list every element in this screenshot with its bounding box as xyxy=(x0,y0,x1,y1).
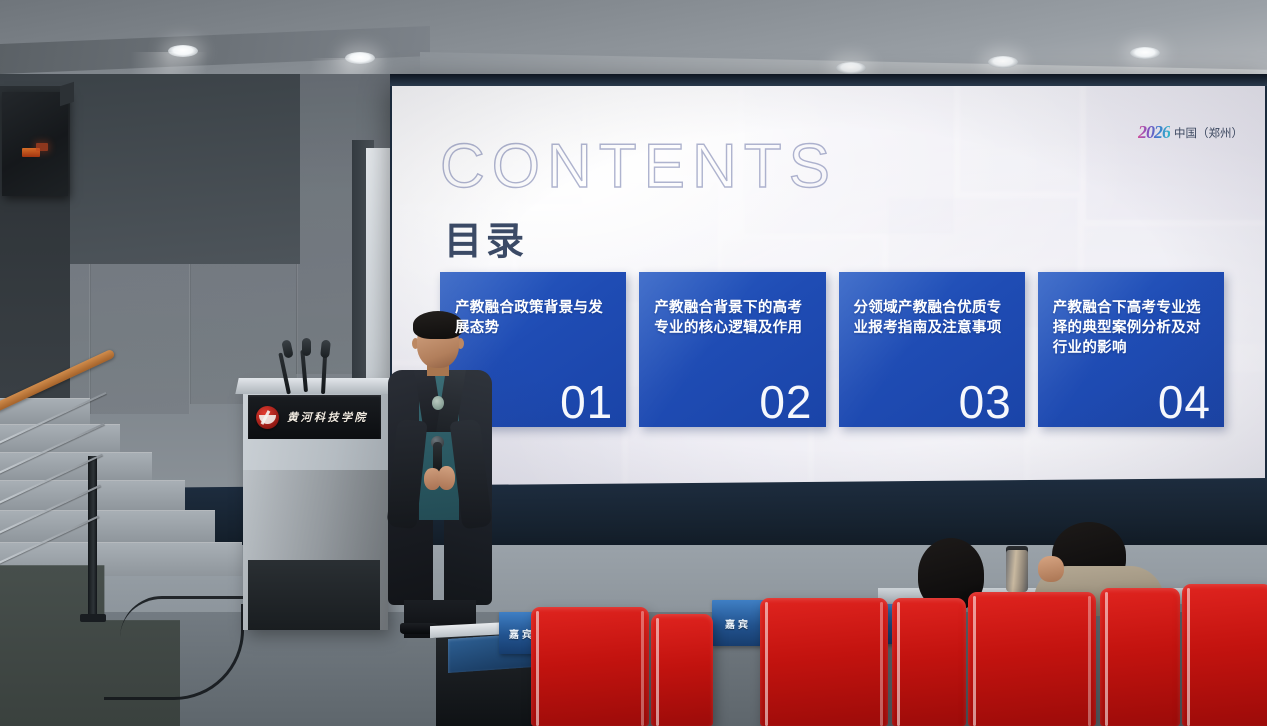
audience-chair[interactable] xyxy=(968,592,1096,726)
place-card: 嘉宾 xyxy=(712,600,764,646)
agenda-card-title: 产教融合背景下的高考专业的核心逻辑及作用 xyxy=(654,298,811,338)
chair-piping xyxy=(897,602,900,726)
agenda-card-number: 01 xyxy=(560,379,613,425)
audience-chair[interactable] xyxy=(651,614,713,726)
ceiling-downlight-icon xyxy=(836,62,866,74)
chair-piping xyxy=(1088,596,1091,726)
agenda-card-title: 分领域产教融合优质专业报考指南及注意事项 xyxy=(854,298,1011,338)
ceiling-downlight-icon xyxy=(345,52,375,64)
microphone-head-icon xyxy=(302,338,311,356)
agenda-card-number: 04 xyxy=(1158,379,1211,425)
presenter-badge-icon xyxy=(432,396,444,410)
audience-chair[interactable] xyxy=(1100,588,1180,726)
ceiling-downlight-icon xyxy=(168,45,198,57)
agenda-card-number: 02 xyxy=(759,379,812,425)
presenter-hand-right xyxy=(438,466,455,490)
screen-vignette xyxy=(392,84,1265,495)
chair-piping xyxy=(536,611,539,726)
presenter xyxy=(386,300,494,630)
audience-chair[interactable] xyxy=(760,598,888,726)
projection-screen-top-bar xyxy=(390,74,1267,86)
indicator-light-icon xyxy=(36,143,48,151)
chair-piping xyxy=(1105,592,1108,726)
lectern-nameplate: 黄河科技学院 xyxy=(248,395,381,439)
agenda-card-title: 产教融合下高考专业选择的典型案例分析及对行业的影响 xyxy=(1053,298,1210,358)
conference-hall-photo: CONTENTS 目录 2026 中国（郑州） 产教融合政策背景与发展态势 01… xyxy=(0,0,1267,726)
place-card-label: 嘉宾 xyxy=(725,616,751,631)
attendee-hand xyxy=(1038,556,1064,582)
ceiling-downlight-icon xyxy=(1130,47,1160,59)
audience-chair[interactable] xyxy=(1182,584,1267,726)
lectern-desktop xyxy=(235,378,396,394)
audience-chair[interactable] xyxy=(531,607,649,726)
railing-post xyxy=(88,456,97,620)
thermos-bottle xyxy=(1006,550,1028,592)
chair-piping xyxy=(880,602,883,726)
university-name: 黄河科技学院 xyxy=(287,409,368,425)
agenda-card-number: 03 xyxy=(959,379,1012,425)
chair-piping xyxy=(1187,588,1190,726)
audience-chair[interactable] xyxy=(892,598,966,726)
chair-piping xyxy=(765,602,768,726)
railing-post-base xyxy=(80,614,106,622)
ceiling-downlight-icon xyxy=(988,56,1018,68)
projection-screen: CONTENTS 目录 2026 中国（郑州） 产教融合政策背景与发展态势 01… xyxy=(392,84,1265,495)
lectern-lower-panel xyxy=(248,560,380,630)
agenda-card-title: 产教融合政策背景与发展态势 xyxy=(455,298,612,338)
wall-speaker xyxy=(2,92,68,196)
university-emblem-icon xyxy=(256,406,279,429)
chair-piping xyxy=(973,596,976,726)
chair-piping xyxy=(641,611,644,726)
chair-piping xyxy=(656,618,659,726)
stair-step xyxy=(0,424,120,452)
